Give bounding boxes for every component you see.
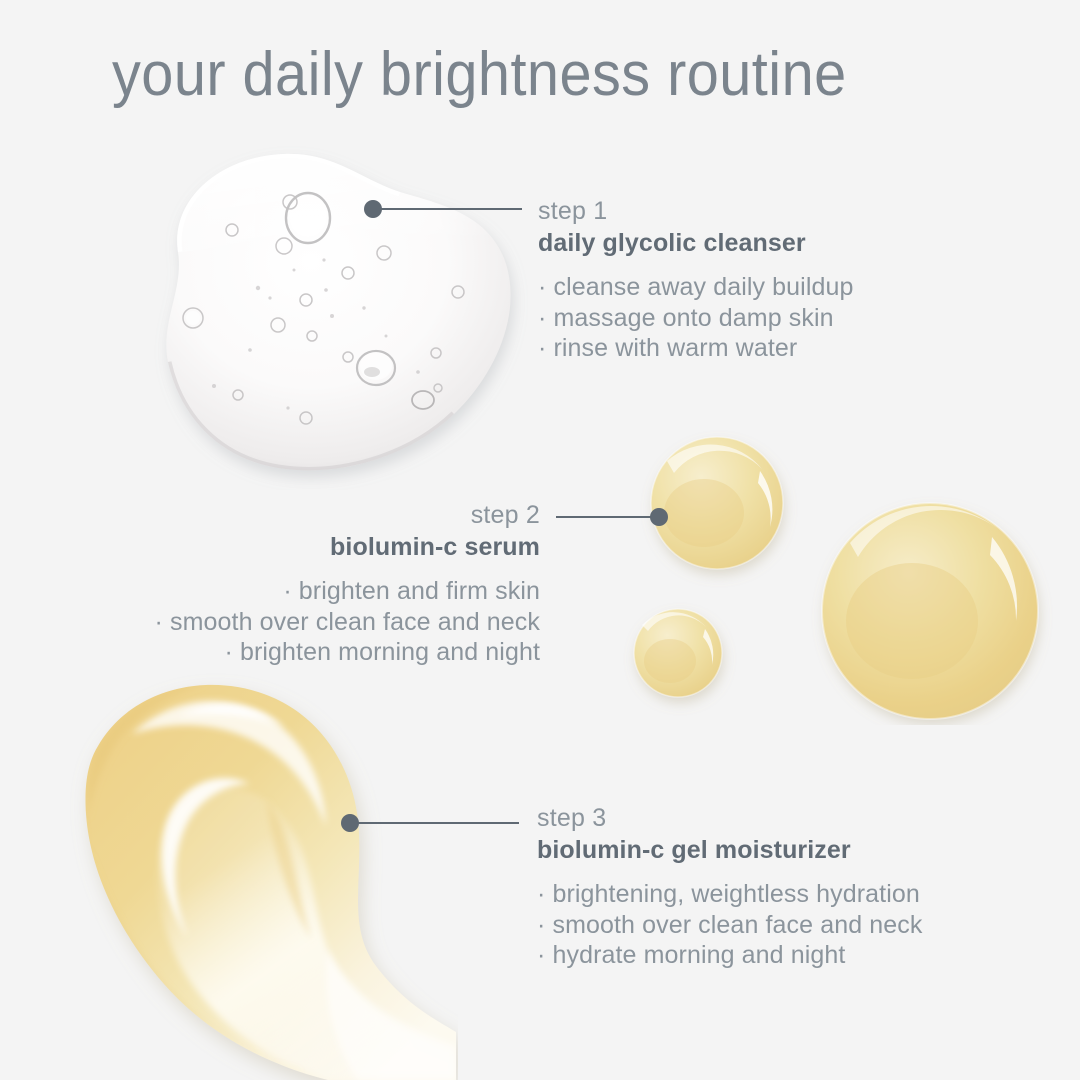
step-1-bullet: · rinse with warm water bbox=[538, 333, 853, 364]
connector-step-3 bbox=[341, 814, 519, 832]
step-2-product-name: biolumin-c serum bbox=[155, 531, 540, 564]
step-1-text-block: step 1 daily glycolic cleanser · cleanse… bbox=[538, 196, 853, 364]
moisturizer-texture-image bbox=[28, 650, 458, 1080]
step-3-bullet: · brightening, weightless hydration bbox=[537, 879, 922, 910]
step-3-bullet: · hydrate morning and night bbox=[537, 940, 922, 971]
step-1-bullet: · massage onto damp skin bbox=[538, 303, 853, 334]
step-1-eyebrow: step 1 bbox=[538, 196, 853, 227]
step-2-bullet: · smooth over clean face and neck bbox=[155, 607, 540, 638]
connector-step-1 bbox=[364, 200, 522, 218]
cleanser-texture-image bbox=[118, 140, 528, 495]
step-2-eyebrow: step 2 bbox=[155, 500, 540, 531]
step-2-bullets: · brighten and firm skin · smooth over c… bbox=[155, 576, 540, 668]
step-1-bullet: · cleanse away daily buildup bbox=[538, 272, 853, 303]
connector-step-2 bbox=[556, 508, 668, 526]
step-2-bullet: · brighten and firm skin bbox=[155, 576, 540, 607]
step-3-text-block: step 3 biolumin-c gel moisturizer · brig… bbox=[537, 803, 922, 971]
connector-line bbox=[373, 208, 522, 210]
page-title: your daily brightness routine bbox=[112, 44, 847, 106]
step-1-product-name: daily glycolic cleanser bbox=[538, 227, 853, 260]
connector-dot-icon bbox=[650, 508, 668, 526]
connector-line bbox=[350, 822, 519, 824]
step-3-eyebrow: step 3 bbox=[537, 803, 922, 834]
step-3-bullets: · brightening, weightless hydration · sm… bbox=[537, 879, 922, 971]
infographic-canvas: your daily brightness routine step 1 dai… bbox=[0, 0, 1080, 1080]
step-2-bullet: · brighten morning and night bbox=[155, 637, 540, 668]
step-3-bullet: · smooth over clean face and neck bbox=[537, 910, 922, 941]
step-2-text-block: step 2 biolumin-c serum · brighten and f… bbox=[155, 500, 540, 668]
step-3-product-name: biolumin-c gel moisturizer bbox=[537, 834, 922, 867]
connector-line bbox=[556, 516, 659, 518]
step-1-bullets: · cleanse away daily buildup · massage o… bbox=[538, 272, 853, 364]
serum-texture-image bbox=[612, 425, 1080, 730]
